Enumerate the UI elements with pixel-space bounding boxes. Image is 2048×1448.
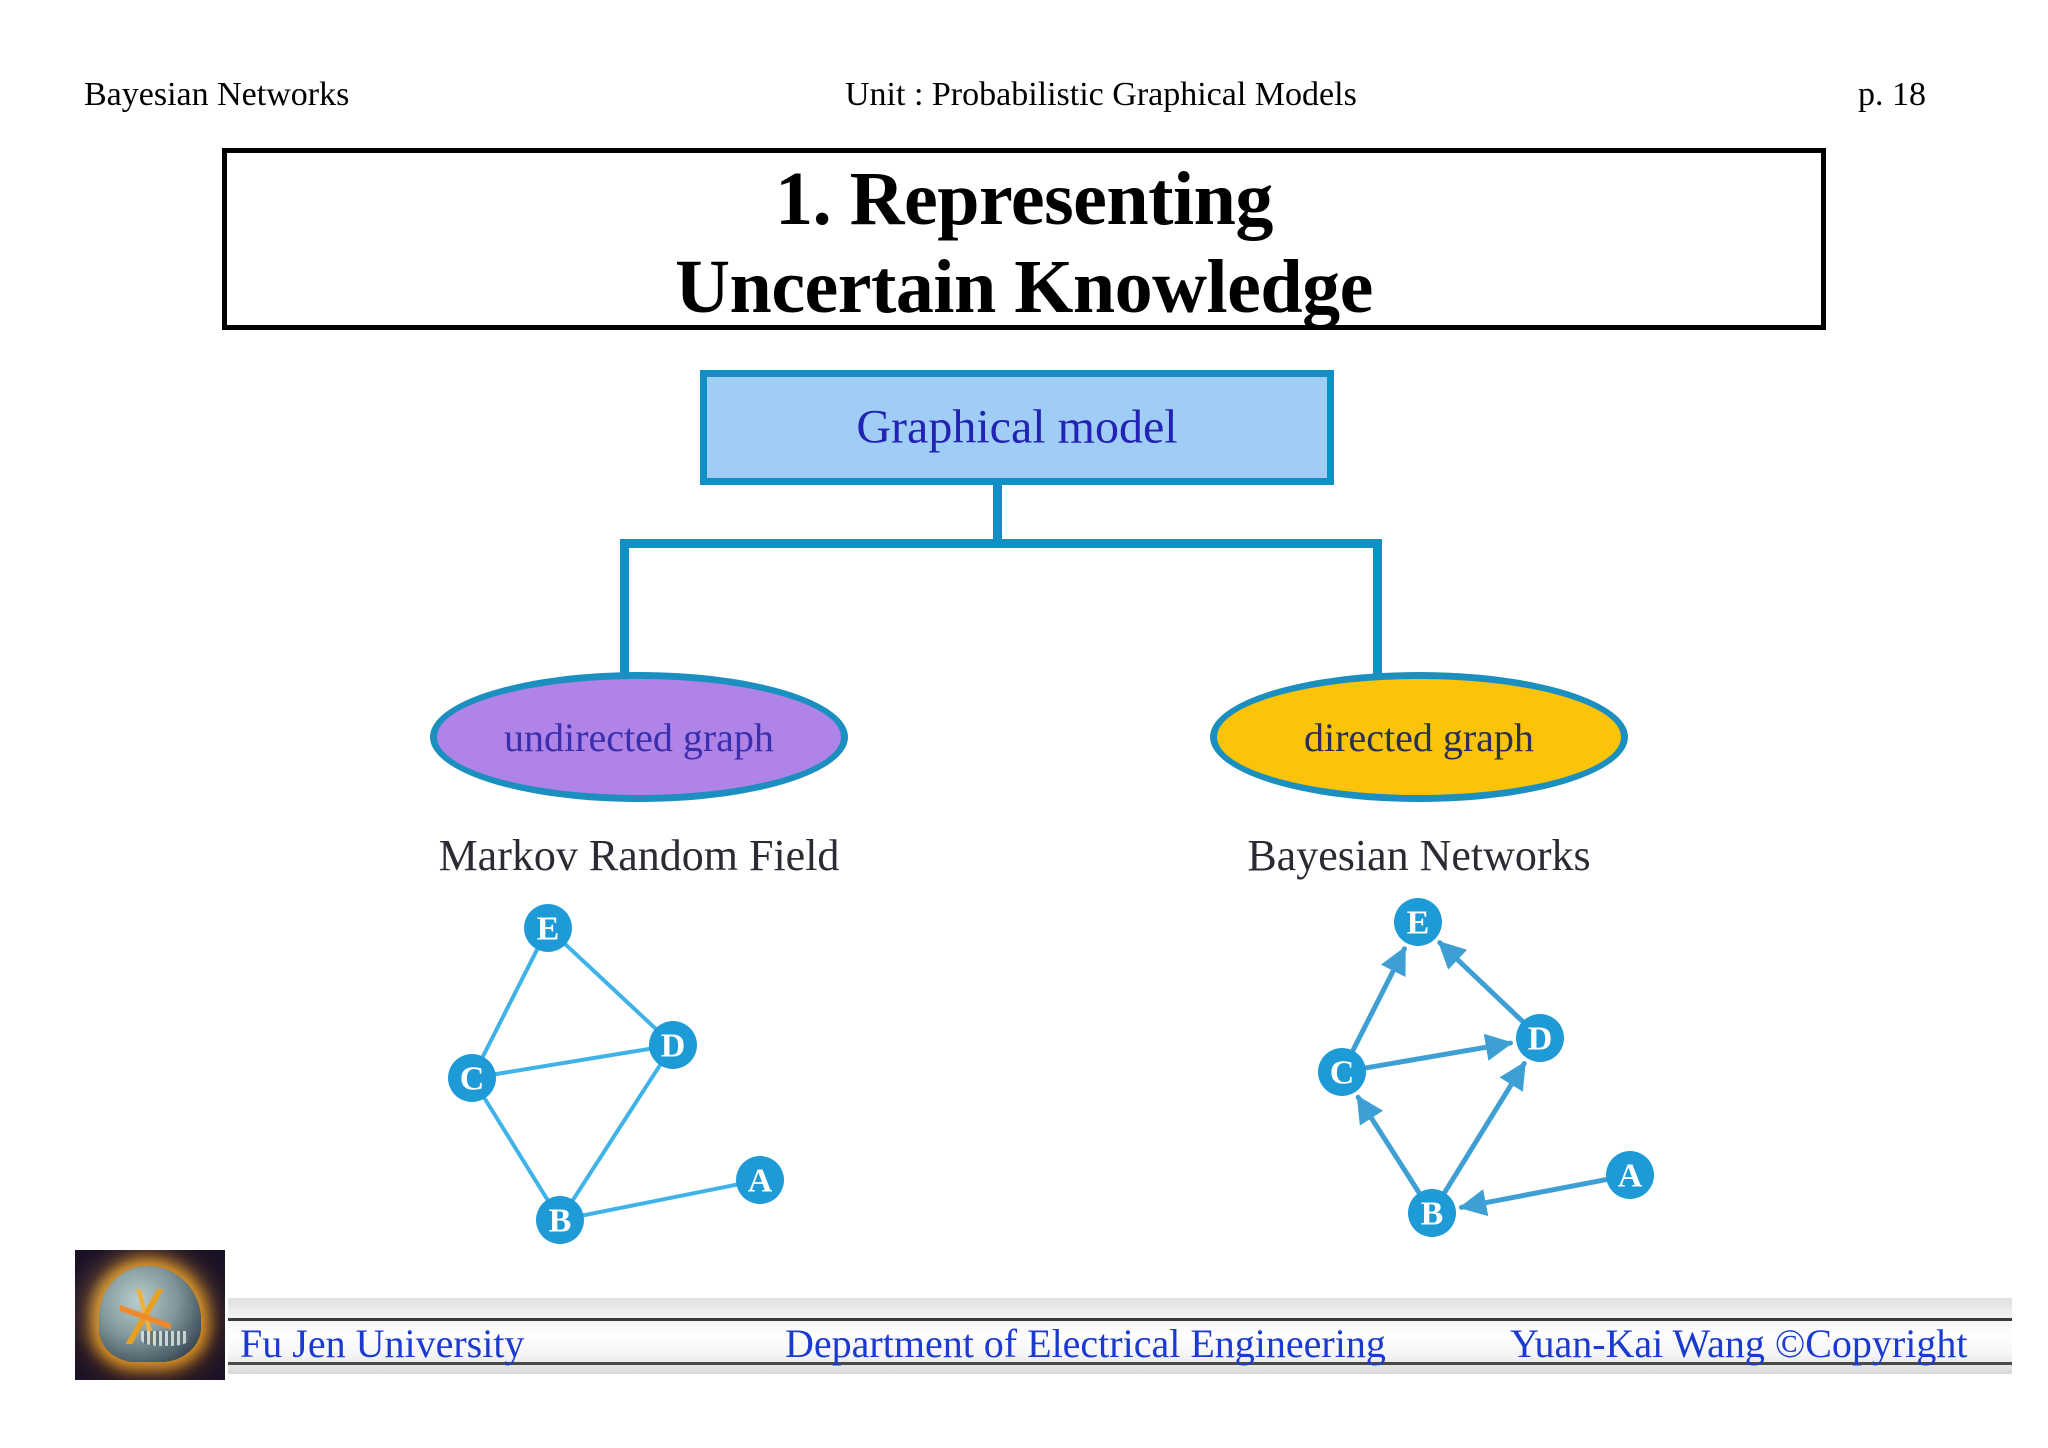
graph-edge-D-E (1440, 943, 1523, 1022)
connector-right-drop (1373, 539, 1382, 677)
graph-node-E: E (524, 904, 572, 952)
graph-node-C: C (1318, 1048, 1366, 1096)
graph-edge-E-D (566, 944, 656, 1028)
graph-edge-B-D (1445, 1064, 1525, 1193)
slide-title-box: 1. Representing Uncertain Knowledge (222, 148, 1826, 330)
graph-node-D: D (1516, 1014, 1564, 1062)
graph-node-A: A (1606, 1151, 1654, 1199)
graph-edge-B-C (1358, 1097, 1419, 1192)
graph-node-label: C (460, 1061, 485, 1098)
header-page-number: p. 18 (1858, 76, 1926, 114)
graph-edge-C-B (485, 1098, 548, 1199)
graphical-model-label: Graphical model (707, 399, 1327, 454)
header-course-title: Bayesian Networks (84, 76, 349, 114)
graph-node-label: E (1407, 905, 1430, 942)
undirected-graph-node: undirected graph (430, 672, 848, 802)
graph-edge-B-A (584, 1185, 737, 1216)
graph-edge-D-B (573, 1065, 660, 1200)
graph-edge-C-D (496, 1049, 650, 1074)
graph-node-B: B (1408, 1189, 1456, 1237)
undirected-graph-label: undirected graph (504, 714, 774, 761)
connector-horizontal (620, 539, 1382, 548)
slide-title-line-1: 1. Representing (227, 155, 1821, 243)
undirected-graph-illustration: EDCBA (400, 880, 840, 1280)
jaw-icon (141, 1331, 189, 1347)
graph-edge-C-D (1366, 1043, 1511, 1068)
graph-edge-C-E (1353, 949, 1405, 1051)
graph-node-label: D (1528, 1021, 1553, 1058)
footer-department-link[interactable]: Department of Electrical Engineering (785, 1320, 1386, 1367)
graph-node-label: B (1421, 1196, 1444, 1233)
connector-left-drop (620, 539, 629, 677)
graph-node-label: A (1618, 1158, 1643, 1195)
graph-node-label: E (537, 911, 560, 948)
graph-edge-A-B (1461, 1180, 1606, 1208)
directed-graph-label: directed graph (1304, 714, 1534, 761)
graph-node-D: D (649, 1021, 697, 1069)
header-unit-title: Unit : Probabilistic Graphical Models (845, 76, 1357, 114)
directed-graph-node: directed graph (1210, 672, 1628, 802)
graph-node-label: D (661, 1028, 686, 1065)
graph-node-label: A (748, 1163, 773, 1200)
graph-edge-E-C (483, 949, 537, 1056)
graph-node-E: E (1394, 898, 1442, 946)
connector-stem (993, 485, 1002, 547)
slide-title-line-2: Uncertain Knowledge (227, 243, 1821, 331)
graph-node-label: C (1330, 1055, 1355, 1092)
footer-copyright-link[interactable]: Yuan-Kai Wang ©Copyright (1510, 1320, 1967, 1367)
graph-node-A: A (736, 1156, 784, 1204)
graph-node-B: B (536, 1196, 584, 1244)
graph-node-label: B (549, 1203, 572, 1240)
markov-random-field-caption: Markov Random Field (430, 830, 848, 881)
slide-title: 1. Representing Uncertain Knowledge (227, 155, 1821, 331)
graph-node-C: C (448, 1054, 496, 1102)
graphical-model-node: Graphical model (700, 370, 1334, 485)
footer-university-link[interactable]: Fu Jen University (240, 1320, 524, 1367)
slide-page: Bayesian Networks Unit : Probabilistic G… (0, 0, 2048, 1448)
fu-jen-brain-logo (75, 1250, 225, 1380)
directed-graph-illustration: EDCBA (1280, 870, 1720, 1280)
